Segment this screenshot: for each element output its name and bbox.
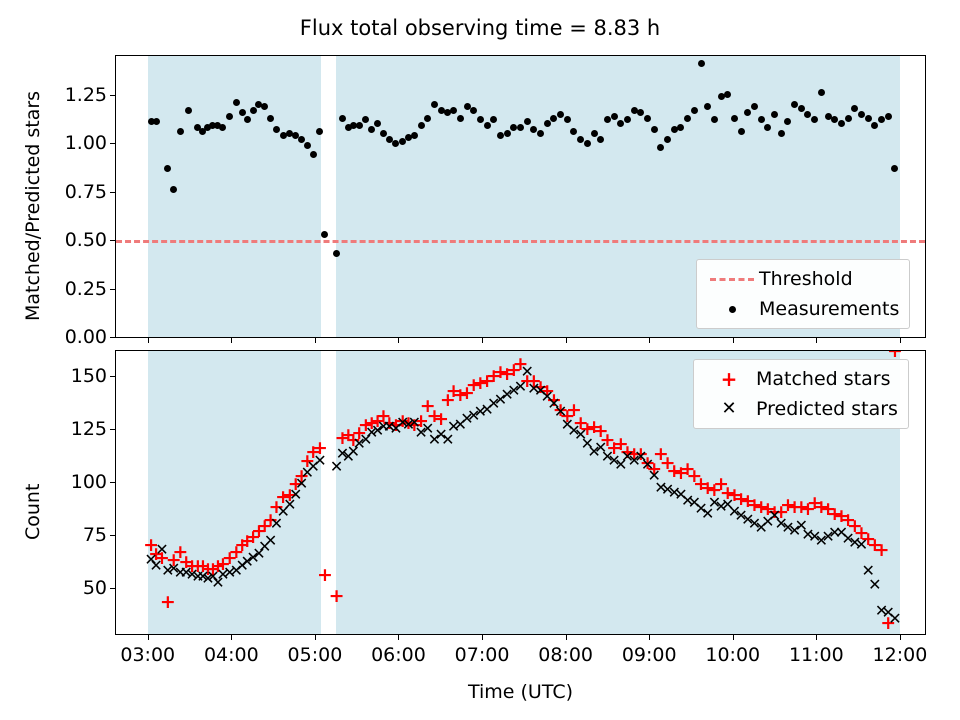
data-point-measurements [233,99,240,106]
data-point-measurements [657,144,664,151]
x-tick-label: 11:00 [789,644,844,666]
x-tick-label: 03:00 [120,644,175,666]
cross-marker-icon: ✕ [702,400,756,418]
data-point-measurements [470,107,477,114]
x-tick-mark [900,634,901,640]
data-point-measurements [316,128,323,135]
data-point-measurements [744,109,751,116]
data-point-measurements [304,142,311,149]
data-point-measurements [591,130,598,137]
x-tick-mark [566,337,567,343]
figure-canvas: Flux total observing time = 8.83 h 0.000… [0,0,960,720]
data-point-measurements [731,115,738,122]
x-tick-mark [733,337,734,343]
x-tick-mark [398,634,399,640]
y-tick-mark [110,192,116,193]
y-tick-mark [110,429,116,430]
data-point-measurements [751,103,758,110]
threshold-dash-icon [705,278,759,281]
x-tick-mark [482,337,483,343]
data-point-measurements [267,115,274,122]
x-tick-mark [231,337,232,343]
top-panel-axes: 0.000.250.500.751.001.25 Threshold Measu… [115,55,926,338]
y-tick-label: 125 [71,418,107,440]
x-tick-mark [148,337,149,343]
measurement-dot-icon [705,306,759,313]
y-tick-label: 0.25 [65,278,107,300]
bottom-panel-legend: + Matched stars ✕ Predicted stars [693,359,909,429]
data-point-measurements [484,122,491,129]
legend-label-matched-stars: Matched stars [756,368,890,390]
y-tick-label: 0.75 [65,181,107,203]
x-tick-mark [315,634,316,640]
x-axis-label: Time (UTC) [115,681,926,703]
y-tick-mark [110,289,116,290]
y-tick-mark [110,143,116,144]
x-tick-mark [231,634,232,640]
data-point-measurements [798,105,805,112]
data-point-measurements [424,115,431,122]
y-tick-label: 100 [71,471,107,493]
data-point-measurements [153,118,160,125]
data-point-measurements [450,107,457,114]
x-tick-mark [398,337,399,343]
data-point-measurements [597,136,604,143]
y-tick-label: 1.00 [65,132,107,154]
data-point-measurements [771,111,778,118]
data-point-measurements [778,130,785,137]
y-tick-mark [110,95,116,96]
data-point-measurements [684,115,691,122]
x-tick-mark [733,634,734,640]
data-point-measurements [339,115,346,122]
data-point-measurements [845,115,852,122]
x-tick-mark [900,337,901,343]
x-tick-label: 09:00 [622,644,677,666]
data-point-measurements [411,132,418,139]
y-tick-mark [110,482,116,483]
y-tick-label: 0.00 [65,326,107,348]
data-point-measurements [791,101,798,108]
legend-label-predicted-stars: Predicted stars [756,398,898,420]
data-point-measurements [356,122,363,129]
data-point-measurements [298,136,305,143]
y-tick-mark [110,240,116,241]
data-point-measurements [885,113,892,120]
data-point-measurements [380,130,387,137]
data-point-measurements [865,115,872,122]
y-tick-label: 0.50 [65,229,107,251]
shaded-interval-1 [148,56,321,337]
y-tick-mark [110,588,116,589]
legend-label-measurements: Measurements [759,298,899,320]
figure-title: Flux total observing time = 8.83 h [0,16,960,40]
top-panel-y-axis-label: Matched/Predicted stars [22,91,44,321]
y-tick-label: 150 [71,365,107,387]
data-point-measurements [418,122,425,129]
data-point-measurements [537,130,544,137]
x-tick-mark [566,634,567,640]
legend-label-threshold: Threshold [759,268,853,290]
x-tick-mark [315,337,316,343]
data-point-measurements [698,60,705,67]
threshold-line [116,240,925,243]
x-tick-mark [649,634,650,640]
data-point-measurements [858,111,865,118]
legend-item-matched-stars: + Matched stars [702,366,898,392]
x-tick-mark [482,634,483,640]
data-point-measurements [226,113,233,120]
data-point-measurements [691,107,698,114]
y-tick-label: 50 [83,577,107,599]
data-point-measurements [557,111,564,118]
legend-item-threshold: Threshold [705,266,899,292]
data-point-measurements [504,130,511,137]
data-point-measurements [431,101,438,108]
y-tick-label: 75 [83,524,107,546]
data-point-measurements [457,115,464,122]
y-tick-mark [110,376,116,377]
data-point-measurements [239,109,246,116]
legend-item-predicted-stars: ✕ Predicted stars [702,396,898,422]
top-panel-legend: Threshold Measurements [696,259,910,329]
data-point-measurements [177,128,184,135]
data-point-measurements [321,231,328,238]
bottom-panel-axes: ++++++++++++++++++++++++++++++++++++++++… [115,350,926,635]
x-tick-label: 04:00 [204,644,259,666]
data-point-measurements [644,115,651,122]
x-tick-label: 06:00 [371,644,426,666]
x-tick-mark [649,337,650,343]
x-tick-label: 08:00 [538,644,593,666]
data-point-measurements [664,136,671,143]
legend-item-measurements: Measurements [705,296,899,322]
data-point-measurements [185,107,192,114]
y-tick-mark [110,337,116,338]
x-tick-mark [816,337,817,343]
shaded-interval-1 [148,351,321,634]
x-tick-mark [816,634,817,640]
data-point-measurements [611,113,618,120]
x-tick-label: 12:00 [873,644,928,666]
bottom-panel-y-axis-label: Count [22,484,44,540]
data-point-measurements [584,140,591,147]
y-tick-mark [110,535,116,536]
data-point-measurements [738,128,745,135]
x-tick-label: 10:00 [705,644,760,666]
x-tick-mark [148,634,149,640]
x-tick-label: 05:00 [288,644,343,666]
plus-marker-icon: + [702,369,756,389]
data-point-measurements [497,132,504,139]
y-tick-label: 1.25 [65,84,107,106]
data-point-measurements [250,107,257,114]
data-point-measurements [651,126,658,133]
x-tick-label: 07:00 [455,644,510,666]
